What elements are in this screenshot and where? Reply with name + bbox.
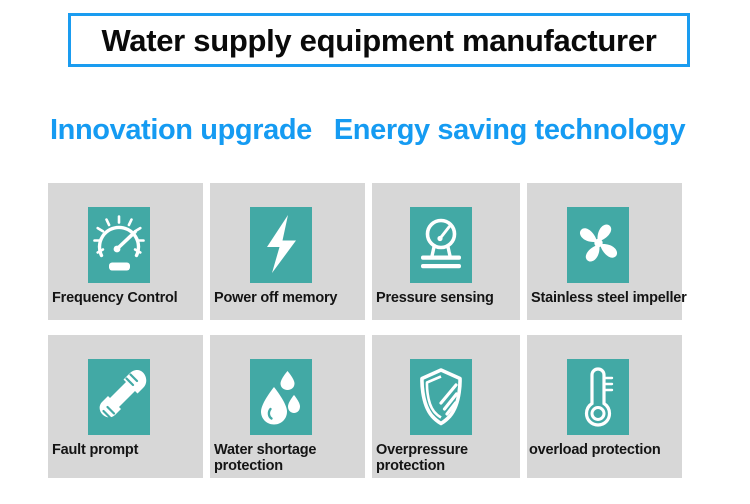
feature-label: overload protection xyxy=(529,442,661,458)
lightning-bolt-icon xyxy=(250,207,312,283)
feature-grid: Frequency Control Power off memory Press… xyxy=(48,183,708,478)
feature-label: Stainless steel impeller xyxy=(531,290,687,306)
subtitle-row: Innovation upgrade Energy saving technol… xyxy=(50,109,710,151)
feature-card-pressure-sensing[interactable]: Pressure sensing xyxy=(372,183,520,320)
feature-label: Pressure sensing xyxy=(376,290,494,306)
gauge-speedometer-icon xyxy=(88,207,150,283)
feature-card-water-shortage-protection[interactable]: Water shortage protection xyxy=(210,335,365,478)
feature-card-frequency-control[interactable]: Frequency Control xyxy=(48,183,203,320)
feature-card-overload-protection[interactable]: overload protection xyxy=(527,335,682,478)
subtitle-energy-saving: Energy saving technology xyxy=(334,116,685,145)
feature-label: Fault prompt xyxy=(52,442,138,458)
feature-card-power-off-memory[interactable]: Power off memory xyxy=(210,183,365,320)
pressure-gauge-icon xyxy=(410,207,472,283)
feature-label: Power off memory xyxy=(214,290,337,306)
page-title: Water supply equipment manufacturer xyxy=(101,25,656,56)
page-title-box: Water supply equipment manufacturer xyxy=(68,13,690,67)
feature-card-overpressure-protection[interactable]: Overpressure protection xyxy=(372,335,520,478)
wrench-icon xyxy=(88,359,150,435)
feature-card-stainless-steel-impeller[interactable]: Stainless steel impeller xyxy=(527,183,682,320)
shield-icon xyxy=(410,359,472,435)
water-drops-icon xyxy=(250,359,312,435)
impeller-fan-icon xyxy=(567,207,629,283)
feature-label: Frequency Control xyxy=(52,290,178,306)
thermometer-icon xyxy=(567,359,629,435)
subtitle-innovation: Innovation upgrade xyxy=(50,116,312,145)
feature-card-fault-prompt[interactable]: Fault prompt xyxy=(48,335,203,478)
feature-label: Overpressure protection xyxy=(376,442,468,474)
feature-label: Water shortage protection xyxy=(214,442,316,474)
